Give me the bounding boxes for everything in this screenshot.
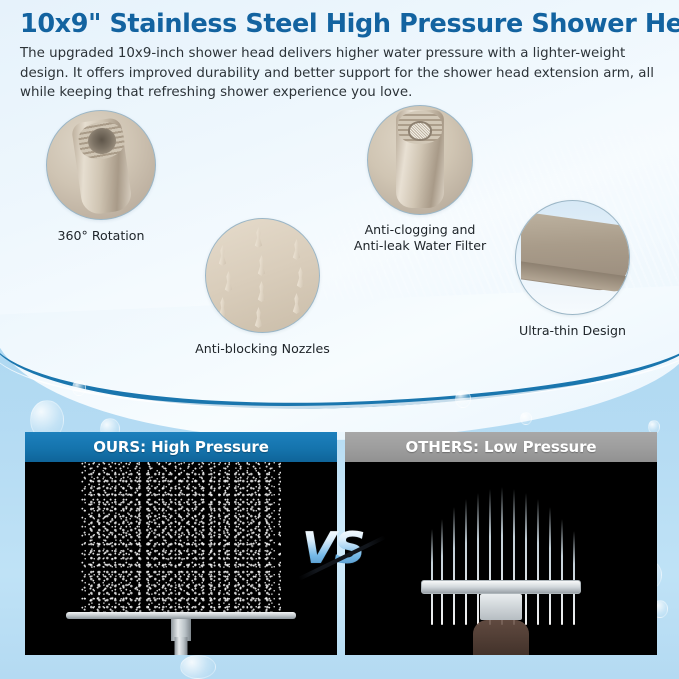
water-stream bbox=[453, 507, 455, 625]
ours-shower-head bbox=[66, 612, 296, 619]
page-title: 10x9" Stainless Steel High Pressure Show… bbox=[20, 10, 665, 39]
others-header: OTHERS: Low Pressure bbox=[345, 432, 657, 462]
feature-nozzles: Anti-blocking Nozzles bbox=[205, 218, 320, 333]
feature-filter-label-line1: Anti-clogging and bbox=[365, 222, 476, 238]
water-filter-icon bbox=[367, 105, 473, 215]
water-stream bbox=[537, 499, 539, 625]
comparison-panel-ours: OURS: High Pressure bbox=[25, 432, 337, 655]
product-description: The upgraded 10x9-inch shower head deliv… bbox=[20, 44, 654, 103]
product-infographic: 10x9" Stainless Steel High Pressure Show… bbox=[0, 0, 679, 679]
holding-hand bbox=[473, 620, 529, 655]
dense-spray-overlay bbox=[89, 472, 274, 612]
others-shower-head bbox=[421, 580, 581, 594]
feature-ultra-thin-label: Ultra-thin Design bbox=[519, 323, 626, 339]
feature-nozzles-label: Anti-blocking Nozzles bbox=[195, 341, 330, 357]
others-shower-hub bbox=[480, 594, 522, 620]
feature-water-filter: Anti-clogging and Anti-leak Water Filter bbox=[367, 105, 473, 215]
swivel-ball-icon bbox=[46, 110, 156, 220]
water-stream bbox=[441, 519, 443, 625]
ours-image bbox=[25, 462, 337, 655]
water-stream bbox=[549, 507, 551, 625]
water-stream bbox=[465, 499, 467, 625]
feature-ultra-thin: Ultra-thin Design bbox=[515, 200, 630, 315]
nozzle-array-icon bbox=[205, 218, 320, 333]
ours-header: OURS: High Pressure bbox=[25, 432, 337, 462]
water-stream bbox=[431, 529, 433, 625]
ours-shower-arm bbox=[175, 637, 188, 655]
others-image bbox=[345, 462, 657, 655]
feature-rotation: 360° Rotation bbox=[46, 110, 156, 220]
water-stream bbox=[525, 493, 527, 625]
thin-plate-icon bbox=[515, 200, 630, 315]
feature-rotation-label: 360° Rotation bbox=[57, 228, 144, 244]
water-stream bbox=[573, 531, 575, 625]
comparison-panel-others: OTHERS: Low Pressure bbox=[345, 432, 657, 655]
feature-filter-label-line2: Anti-leak Water Filter bbox=[354, 238, 486, 254]
water-stream bbox=[477, 493, 479, 625]
water-stream bbox=[561, 519, 563, 625]
